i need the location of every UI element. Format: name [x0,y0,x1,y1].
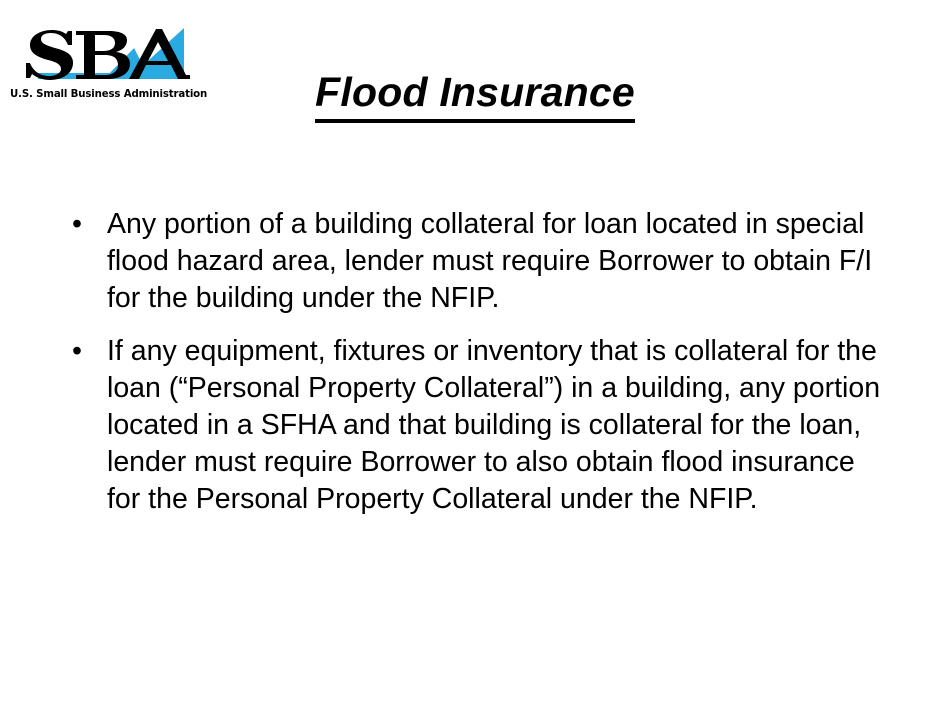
bullet-marker-icon: • [72,333,82,370]
list-item: • If any equipment, fixtures or inventor… [62,333,892,518]
slide-title-container: Flood Insurance [0,68,950,123]
page-title: Flood Insurance [315,68,635,123]
list-item: • Any portion of a building collateral f… [62,206,892,317]
bullet-marker-icon: • [72,206,82,243]
list-item-text: Any portion of a building collateral for… [107,206,892,317]
list-item-text: If any equipment, fixtures or inventory … [107,333,892,518]
slide-canvas: U.S. Small Business Administration Flood… [0,0,950,713]
slide-body: • Any portion of a building collateral f… [62,206,892,518]
